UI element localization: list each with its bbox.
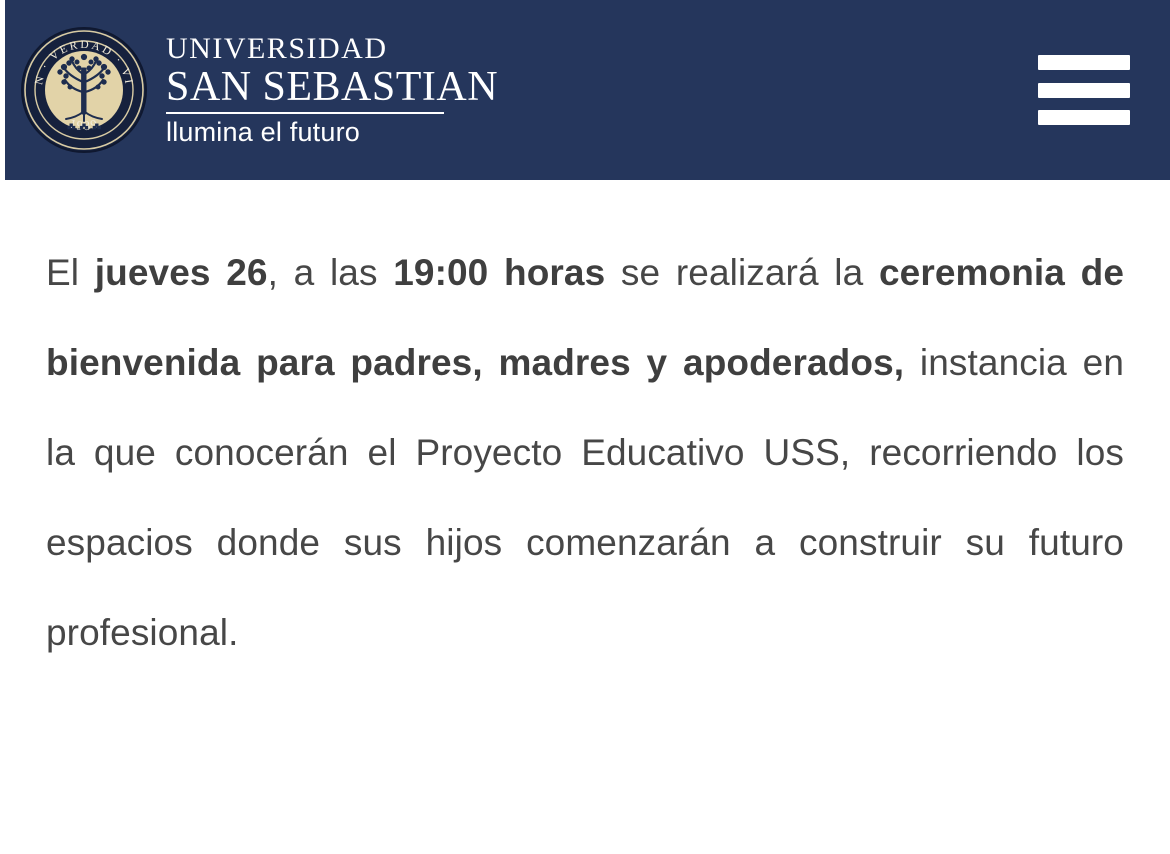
paragraph-bold-time: 19:00 horas <box>393 252 605 293</box>
brand-logo[interactable]: RAZON · VERDAD · VIRTUD 1989 <box>5 26 498 154</box>
wordmark-san-sebastian: SAN SEBASTIAN <box>166 65 498 109</box>
page-root: RAZON · VERDAD · VIRTUD 1989 <box>0 0 1170 854</box>
paragraph-part-2: , a las <box>268 252 394 293</box>
paragraph-part-4: instancia en la que conocerán el Proyect… <box>46 342 1124 653</box>
hamburger-bar-top <box>1038 55 1130 70</box>
wordmark-universidad: UNIVERSIDAD <box>166 34 498 64</box>
article-body: El jueves 26, a las 19:00 horas se reali… <box>0 180 1170 678</box>
wordmark: UNIVERSIDAD SAN SEBASTIAN llumina el fut… <box>166 32 498 148</box>
hamburger-bar-bottom <box>1038 110 1130 125</box>
hamburger-menu-icon[interactable] <box>1038 55 1130 125</box>
paragraph-bold-date: jueves 26 <box>95 252 268 293</box>
wordmark-tagline: llumina el futuro <box>166 118 498 148</box>
paragraph-part-3: se realizará la <box>605 252 879 293</box>
hamburger-bar-middle <box>1038 83 1130 98</box>
site-header: RAZON · VERDAD · VIRTUD 1989 <box>5 0 1170 180</box>
article-paragraph: El jueves 26, a las 19:00 horas se reali… <box>46 228 1124 678</box>
paragraph-part-1: El <box>46 252 95 293</box>
wordmark-divider <box>166 112 444 114</box>
university-seal-icon: RAZON · VERDAD · VIRTUD 1989 <box>20 26 148 154</box>
